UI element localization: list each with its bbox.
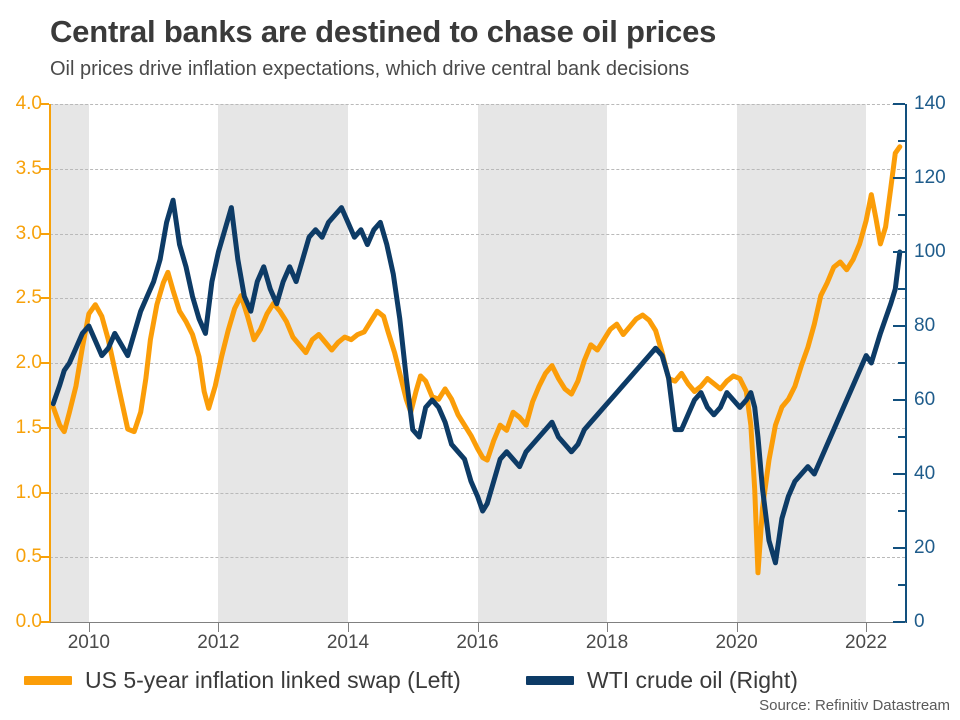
right-axis-tick-label: 140 (914, 93, 946, 115)
x-axis-tick-label: 2022 (845, 632, 887, 654)
legend-color-swatch (526, 676, 574, 685)
right-axis-tick-label: 20 (914, 537, 935, 559)
legend-label: US 5-year inflation linked swap (Left) (85, 667, 461, 694)
left-axis-tick (41, 362, 49, 364)
chart-title: Central banks are destined to chase oil … (50, 14, 930, 50)
right-axis-tick (893, 103, 905, 105)
x-axis-tick-label: 2020 (715, 632, 757, 654)
x-axis-tick-label: 2010 (68, 632, 110, 654)
right-axis-minor-tick (898, 362, 905, 364)
left-axis-tick-label: 1.5 (16, 417, 42, 439)
right-axis-minor-tick (898, 584, 905, 586)
right-axis-minor-tick (898, 214, 905, 216)
right-axis-tick-label: 100 (914, 241, 946, 263)
chart-subtitle: Oil prices drive inflation expectations,… (50, 58, 950, 81)
right-axis-tick-label: 60 (914, 389, 935, 411)
right-axis-minor-tick (898, 140, 905, 142)
chart-root: Central banks are destined to chase oil … (0, 0, 960, 720)
series-line-inflation-swap (53, 147, 900, 573)
right-axis-tick-label: 0 (914, 611, 925, 633)
left-axis-tick-label: 0.5 (16, 546, 42, 568)
x-axis-tick (348, 623, 349, 632)
right-axis-tick (893, 473, 905, 475)
x-axis-tick (218, 623, 219, 632)
left-axis-tick-label: 3.5 (16, 158, 42, 180)
right-axis-tick (893, 177, 905, 179)
legend-color-swatch (24, 676, 72, 685)
x-axis-tick-label: 2016 (456, 632, 498, 654)
x-axis-tick (478, 623, 479, 632)
left-axis-tick (41, 103, 49, 105)
legend-item[interactable]: US 5-year inflation linked swap (Left) (24, 660, 461, 700)
right-axis-tick (893, 399, 905, 401)
x-axis-tick (607, 623, 608, 632)
left-axis-tick (41, 297, 49, 299)
left-axis-tick (41, 427, 49, 429)
x-axis-tick (737, 623, 738, 632)
right-axis-tick-label: 80 (914, 315, 935, 337)
plot-area (50, 104, 905, 622)
left-axis-tick-label: 2.5 (16, 287, 42, 309)
x-axis-tick-label: 2018 (586, 632, 628, 654)
x-axis-tick (89, 623, 90, 632)
x-axis-tick-label: 2014 (327, 632, 369, 654)
source-note: Source: Refinitiv Datastream (759, 697, 950, 714)
x-axis-tick-label: 2012 (197, 632, 239, 654)
legend-label: WTI crude oil (Right) (587, 667, 798, 694)
left-axis-tick-label: 2.0 (16, 352, 42, 374)
left-axis-tick-label: 3.0 (16, 223, 42, 245)
right-axis-tick (893, 621, 905, 623)
right-axis-tick-label: 40 (914, 463, 935, 485)
legend-item[interactable]: WTI crude oil (Right) (526, 660, 798, 700)
right-axis-line (905, 104, 907, 623)
left-axis-line (49, 104, 51, 623)
left-axis-tick-label: 4.0 (16, 93, 42, 115)
left-axis-tick (41, 233, 49, 235)
right-axis-minor-tick (898, 436, 905, 438)
x-axis-tick (866, 623, 867, 632)
left-axis-tick (41, 621, 49, 623)
right-axis-tick (893, 547, 905, 549)
right-axis-tick (893, 251, 905, 253)
left-axis-tick-label: 1.0 (16, 482, 42, 504)
right-axis-tick (893, 325, 905, 327)
left-axis-tick-label: 0.0 (16, 611, 42, 633)
series-lines (50, 104, 905, 622)
series-line-wti-crude (53, 200, 900, 563)
right-axis-minor-tick (898, 510, 905, 512)
right-axis-minor-tick (898, 288, 905, 290)
left-axis-tick (41, 556, 49, 558)
left-axis-tick (41, 168, 49, 170)
left-axis-tick (41, 492, 49, 494)
right-axis-tick-label: 120 (914, 167, 946, 189)
